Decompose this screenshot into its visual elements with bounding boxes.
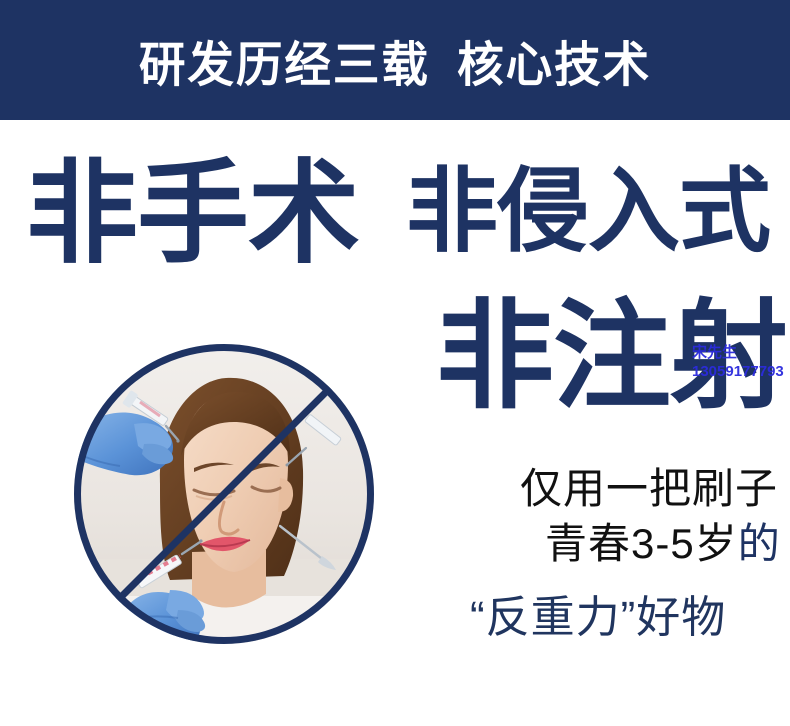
body-line-brush: 仅用一把刷子 <box>520 468 778 510</box>
header-banner: 研发历经三载 核心技术 <box>0 0 790 120</box>
banner-title: 研发历经三载 核心技术 <box>139 25 651 95</box>
headline-no-injection: 非注射 <box>436 298 787 416</box>
clinic-photo <box>74 344 374 644</box>
promo-poster: 研发历经三载 核心技术 非手术 非侵入式 非注射 宋先生 13059177793… <box>0 0 790 726</box>
body-line-youth-main: 青春3-5岁 <box>545 520 738 567</box>
clinic-photo-illustration <box>74 344 374 644</box>
body-line-antigravity: “反重力”好物 <box>470 596 726 640</box>
headline-non-invasive: 非侵入式 <box>406 166 770 258</box>
prohibited-injection-figure <box>74 344 374 644</box>
body-line-youth-accent: 的 <box>738 520 781 567</box>
body-line-youth: 青春3-5岁的 <box>545 523 781 565</box>
headline-no-surgery: 非手术 <box>26 158 359 270</box>
